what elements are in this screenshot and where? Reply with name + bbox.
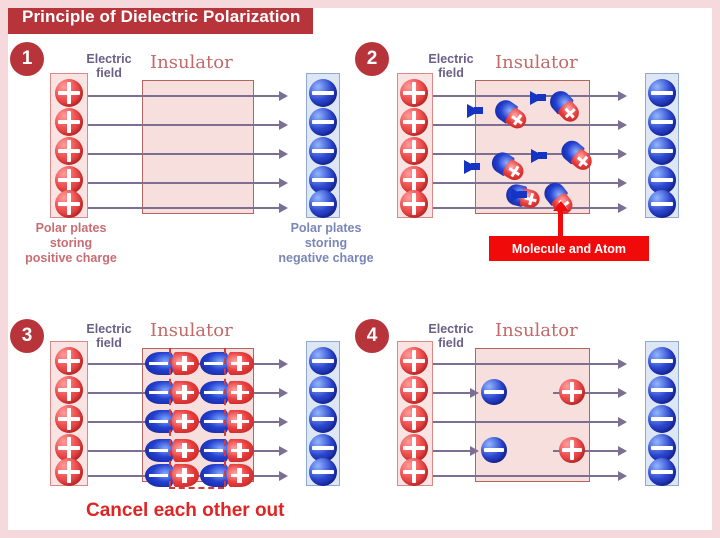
positive-charge-icon: [55, 190, 83, 218]
panel-1-field-line: [88, 207, 280, 209]
negative-charge-icon: [648, 347, 676, 375]
panel-1-field-line: [88, 182, 280, 184]
dipole-positive-end-icon: [172, 464, 199, 487]
panel-4-badge: 4: [355, 319, 389, 353]
molecule-atom-label: Molecule and Atom: [512, 242, 626, 256]
panel-3-field-arrow-icon: [279, 388, 288, 398]
panel-3-field-arrow-icon: [279, 471, 288, 481]
negative-charge-icon: [309, 347, 337, 375]
positive-charge-icon: [400, 190, 428, 218]
panel-3-field-arrow-icon: [279, 359, 288, 369]
dipole-positive-end-icon: [227, 410, 254, 433]
callout-pointer-icon: [553, 201, 569, 211]
panel-4-field-arrow-icon: [618, 359, 627, 369]
positive-charge-icon: [55, 458, 83, 486]
panel-2-field-arrow-icon: [618, 178, 627, 188]
positive-charge-icon: [55, 108, 83, 136]
dipole-positive-end-icon: [172, 352, 199, 375]
positive-charge-icon: [400, 376, 428, 404]
cancel-region-dashed-right: [224, 348, 226, 487]
dipole-positive-end-icon: [227, 439, 254, 462]
panel-1-field-arrow-icon: [279, 178, 288, 188]
title-bar: Principle of Dielectric Polarization: [8, 8, 313, 34]
dipole-positive-end-icon: [172, 381, 199, 404]
surface-negative-charge-icon: [481, 437, 507, 463]
panel-1-insulator-label: Insulator: [150, 52, 233, 73]
panel-4-field-arrow-icon: [618, 446, 627, 456]
positive-charge-icon: [400, 108, 428, 136]
panel-1-insulator-slab: [142, 80, 254, 214]
negative-charge-icon: [309, 458, 337, 486]
positive-charge-icon: [55, 137, 83, 165]
negative-charge-icon: [648, 405, 676, 433]
panel-2-field-arrow-icon: [618, 120, 627, 130]
panel-2-field-line: [426, 182, 619, 184]
negative-charge-icon: [309, 190, 337, 218]
dipole-positive-end-icon: [227, 381, 254, 404]
positive-charge-icon: [55, 376, 83, 404]
diagram-page: Principle of Dielectric Polarization 1 E…: [8, 8, 712, 530]
negative-charge-icon: [309, 376, 337, 404]
panel-1-field-arrow-icon: [279, 120, 288, 130]
negative-charge-icon: [648, 376, 676, 404]
panel-2-badge: 2: [355, 42, 389, 76]
polarization-arrow-icon: [467, 104, 480, 118]
positive-charge-icon: [55, 347, 83, 375]
callout-stem: [558, 211, 563, 236]
panel-1-field-line: [88, 95, 280, 97]
panel-3-badge: 3: [10, 319, 44, 353]
panel-1-positive-plate-caption: Polar plates storing positive charge: [16, 221, 126, 266]
panel-1-badge: 1: [10, 42, 44, 76]
panel-2-field-line: [426, 95, 619, 97]
panel-1-field-line: [88, 153, 280, 155]
panel-4-field-line: [426, 363, 619, 365]
panel-1-field-arrow-icon: [279, 149, 288, 159]
negative-charge-icon: [648, 137, 676, 165]
surface-negative-charge-icon: [481, 379, 507, 405]
panel-1-field-line: [88, 124, 280, 126]
polarization-arrow-icon: [511, 188, 524, 202]
negative-charge-icon: [309, 137, 337, 165]
cancel-note: Cancel each other out: [86, 500, 285, 522]
panel-4-field-arrow-icon: [618, 417, 627, 427]
panel-4-field-line: [426, 421, 619, 423]
panel-4-field-arrow-icon: [618, 471, 627, 481]
positive-charge-icon: [55, 79, 83, 107]
negative-charge-icon: [309, 108, 337, 136]
positive-charge-icon: [400, 137, 428, 165]
surface-positive-charge-icon: [559, 437, 585, 463]
panel-4-field-arrow-icon: [470, 388, 479, 398]
polarization-arrow-icon: [530, 91, 543, 105]
polarization-arrow-icon: [531, 149, 544, 163]
negative-charge-icon: [309, 405, 337, 433]
panel-3-field-arrow-icon: [279, 417, 288, 427]
positive-charge-icon: [400, 79, 428, 107]
negative-charge-icon: [309, 79, 337, 107]
panel-4-field-arrow-icon: [618, 388, 627, 398]
panel-4-field-arrow-icon: [470, 446, 479, 456]
panel-2-field-arrow-icon: [618, 91, 627, 101]
panel-4-insulator-label: Insulator: [495, 320, 578, 341]
positive-charge-icon: [400, 405, 428, 433]
dipole-positive-end-icon: [172, 410, 199, 433]
negative-charge-icon: [648, 79, 676, 107]
panel-1-field-arrow-icon: [279, 203, 288, 213]
dipole-positive-end-icon: [227, 464, 254, 487]
polarization-arrow-icon: [464, 160, 477, 174]
positive-charge-icon: [55, 405, 83, 433]
page-title: Principle of Dielectric Polarization: [8, 8, 301, 27]
panel-2-field-arrow-icon: [618, 149, 627, 159]
negative-charge-icon: [648, 108, 676, 136]
negative-charge-icon: [648, 190, 676, 218]
positive-charge-icon: [400, 347, 428, 375]
cancel-region-dashed-bottom: [169, 487, 224, 489]
negative-charge-icon: [648, 458, 676, 486]
panel-2-insulator-label: Insulator: [495, 52, 578, 73]
cancel-region-dashed-left: [169, 348, 171, 487]
surface-positive-charge-icon: [559, 379, 585, 405]
panel-2-field-arrow-icon: [618, 203, 627, 213]
panel-3-field-arrow-icon: [279, 446, 288, 456]
panel-1-negative-plate-caption: Polar plates storing negative charge: [266, 221, 386, 266]
dipole-positive-end-icon: [172, 439, 199, 462]
panel-3-insulator-label: Insulator: [150, 320, 233, 341]
panel-4-field-line: [426, 475, 619, 477]
positive-charge-icon: [400, 458, 428, 486]
dipole-positive-end-icon: [227, 352, 254, 375]
panel-1-field-arrow-icon: [279, 91, 288, 101]
molecule-atom-callout: Molecule and Atom: [489, 236, 649, 261]
